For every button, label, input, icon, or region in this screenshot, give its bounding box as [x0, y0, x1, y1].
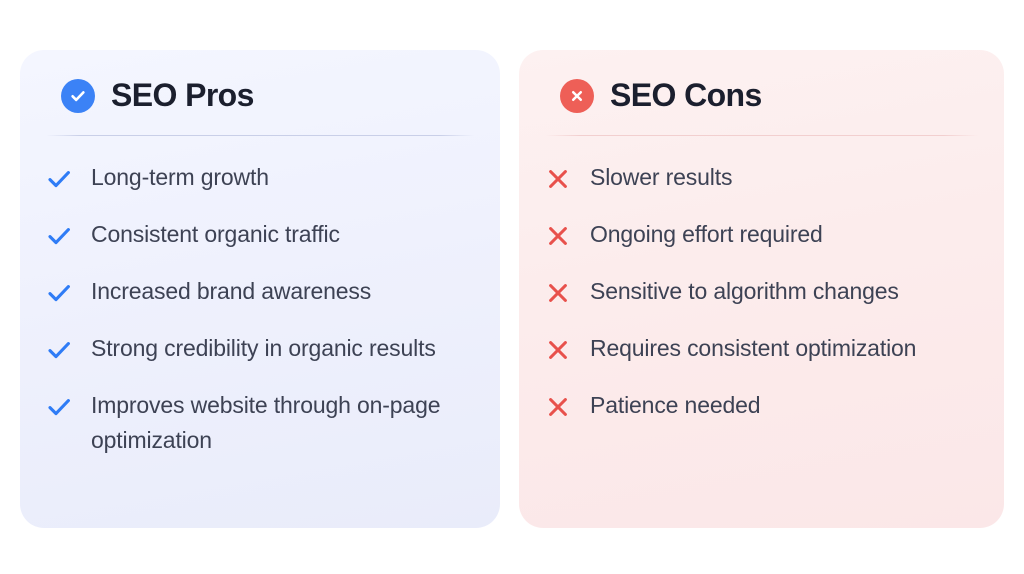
- check-icon: [46, 280, 72, 306]
- check-circle-icon: [61, 79, 95, 113]
- list-item: Requires consistent optimization: [545, 331, 978, 366]
- list-item-label: Consistent organic traffic: [91, 217, 340, 252]
- x-circle-icon: [560, 79, 594, 113]
- list-item: Consistent organic traffic: [46, 217, 474, 252]
- seo-pros-header: SEO Pros: [20, 50, 500, 113]
- list-item: Patience needed: [545, 388, 978, 423]
- list-item-label: Slower results: [590, 160, 732, 195]
- seo-cons-title: SEO Cons: [610, 79, 762, 113]
- list-item: Increased brand awareness: [46, 274, 474, 309]
- list-item-label: Patience needed: [590, 388, 760, 423]
- check-icon: [46, 337, 72, 363]
- list-item: Ongoing effort required: [545, 217, 978, 252]
- list-item-label: Strong credibility in organic results: [91, 331, 436, 366]
- list-item-label: Sensitive to algorithm changes: [590, 274, 899, 309]
- x-icon: [545, 337, 571, 363]
- seo-cons-card: SEO Cons Slower results Ongoing effort r: [519, 50, 1004, 528]
- list-item: Sensitive to algorithm changes: [545, 274, 978, 309]
- seo-pros-card: SEO Pros Long-term growth Consistent org: [20, 50, 500, 528]
- check-icon: [46, 166, 72, 192]
- seo-cons-header: SEO Cons: [519, 50, 1004, 113]
- list-item: Improves website through on-page optimiz…: [46, 388, 474, 458]
- x-icon: [545, 280, 571, 306]
- list-item-label: Improves website through on-page optimiz…: [91, 388, 443, 458]
- list-item-label: Long-term growth: [91, 160, 269, 195]
- x-icon: [545, 166, 571, 192]
- comparison-board: SEO Pros Long-term growth Consistent org: [0, 0, 1024, 574]
- check-icon: [46, 394, 72, 420]
- list-item: Slower results: [545, 160, 978, 195]
- list-item-label: Ongoing effort required: [590, 217, 823, 252]
- x-icon: [545, 394, 571, 420]
- list-item: Long-term growth: [46, 160, 474, 195]
- list-item-label: Requires consistent optimization: [590, 331, 916, 366]
- list-item-label: Increased brand awareness: [91, 274, 371, 309]
- check-icon: [46, 223, 72, 249]
- seo-pros-title: SEO Pros: [111, 79, 254, 113]
- x-icon: [545, 223, 571, 249]
- seo-pros-list: Long-term growth Consistent organic traf…: [20, 136, 500, 458]
- list-item: Strong credibility in organic results: [46, 331, 474, 366]
- seo-cons-list: Slower results Ongoing effort required S…: [519, 136, 1004, 423]
